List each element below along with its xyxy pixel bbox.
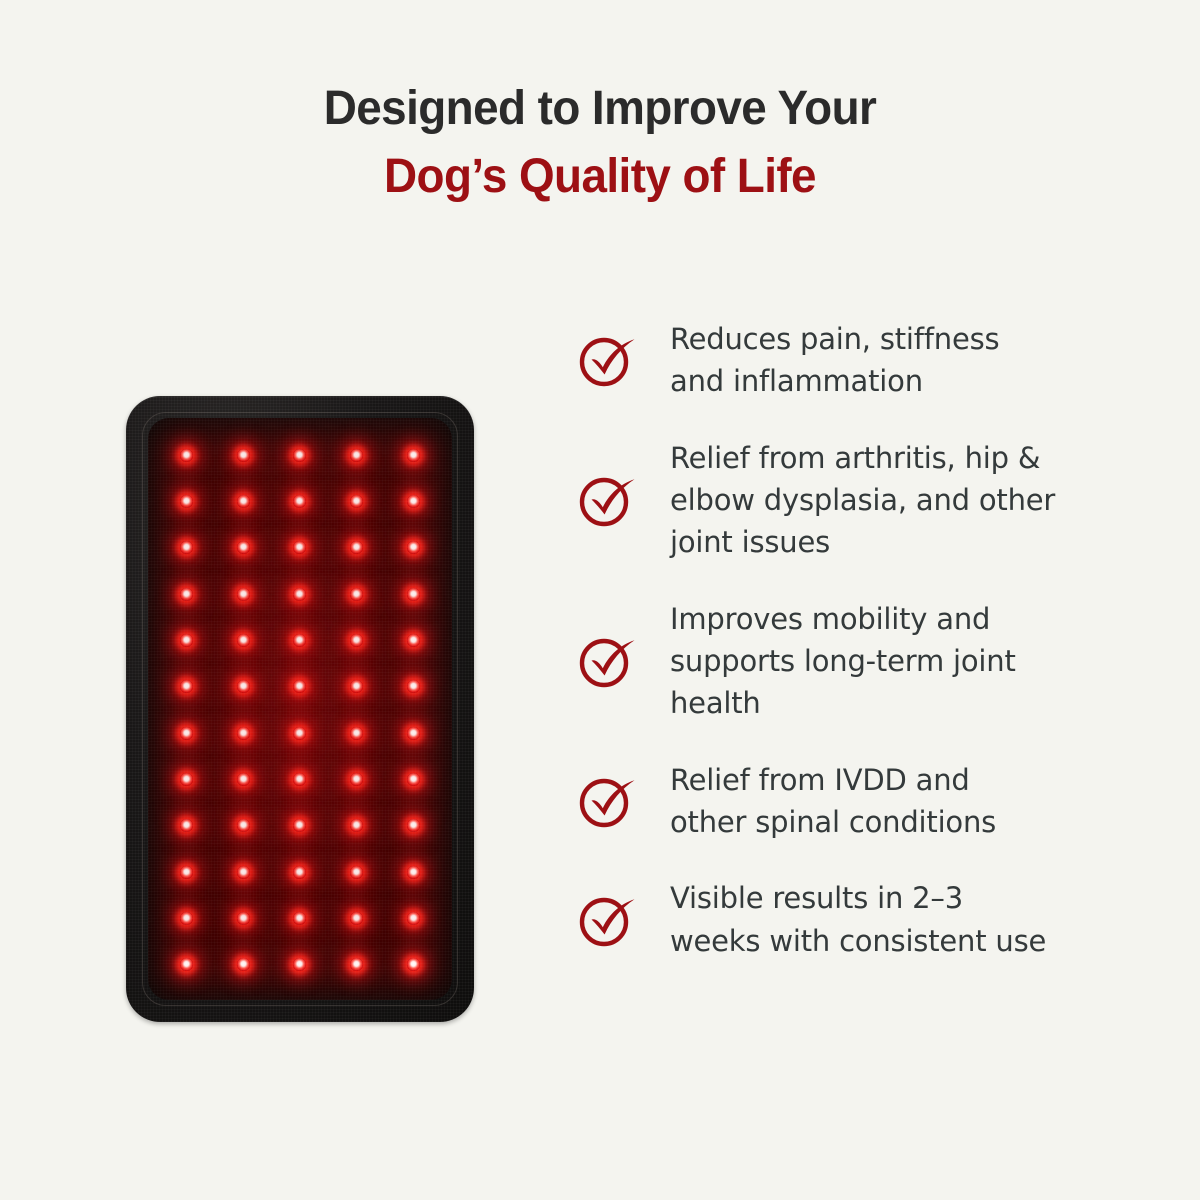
- benefit-item: Relief from arthritis, hip & elbow dyspl…: [576, 437, 1176, 564]
- led-light: [180, 680, 193, 693]
- pad-led-panel: [148, 418, 452, 1000]
- led-light: [293, 449, 306, 462]
- led-light: [293, 495, 306, 508]
- led-cell: [385, 803, 442, 849]
- led-light: [350, 588, 363, 601]
- led-light: [293, 819, 306, 832]
- led-cell: [328, 895, 385, 941]
- led-cell: [385, 895, 442, 941]
- benefit-item: Visible results in 2–3 weeks with consis…: [576, 877, 1176, 962]
- circle-check-icon: [576, 470, 642, 530]
- led-cell: [215, 525, 272, 571]
- led-cell: [215, 478, 272, 524]
- led-light: [237, 727, 250, 740]
- led-cell: [215, 571, 272, 617]
- led-cell: [328, 432, 385, 478]
- led-light: [293, 680, 306, 693]
- led-light: [180, 588, 193, 601]
- led-light: [293, 912, 306, 925]
- product-image-red-light-therapy-pad: [126, 396, 474, 1022]
- pad-fabric-body: [126, 396, 474, 1022]
- led-light: [293, 727, 306, 740]
- led-cell: [328, 849, 385, 895]
- led-cell: [158, 478, 215, 524]
- led-light: [237, 680, 250, 693]
- benefit-text: Reduces pain, stiffness and inflammation: [670, 318, 999, 403]
- benefit-text: Improves mobility and supports long-term…: [670, 598, 1016, 725]
- led-light: [237, 958, 250, 971]
- led-cell: [385, 571, 442, 617]
- led-cell: [158, 803, 215, 849]
- circle-check-icon: [576, 890, 642, 950]
- led-cell: [272, 710, 329, 756]
- led-light: [350, 541, 363, 554]
- led-light: [237, 866, 250, 879]
- led-cell: [215, 756, 272, 802]
- benefit-text: Visible results in 2–3 weeks with consis…: [670, 877, 1046, 962]
- led-light: [237, 773, 250, 786]
- led-light: [350, 866, 363, 879]
- led-cell: [272, 432, 329, 478]
- led-cell: [385, 849, 442, 895]
- led-cell: [158, 617, 215, 663]
- led-cell: [158, 710, 215, 756]
- led-light: [180, 541, 193, 554]
- led-cell: [272, 756, 329, 802]
- led-light: [350, 449, 363, 462]
- led-cell: [385, 525, 442, 571]
- led-cell: [328, 756, 385, 802]
- page-title: Designed to Improve Your Dog’s Quality o…: [0, 78, 1200, 209]
- title-line-primary: Designed to Improve Your: [27, 78, 1173, 140]
- led-light: [350, 727, 363, 740]
- led-cell: [158, 525, 215, 571]
- led-cell: [272, 478, 329, 524]
- led-light: [407, 495, 420, 508]
- led-light: [293, 866, 306, 879]
- led-cell: [158, 664, 215, 710]
- benefit-item: Improves mobility and supports long-term…: [576, 598, 1176, 725]
- led-cell: [215, 617, 272, 663]
- led-light: [180, 958, 193, 971]
- led-cell: [328, 525, 385, 571]
- promo-graphic: Designed to Improve Your Dog’s Quality o…: [0, 0, 1200, 1200]
- led-light: [407, 912, 420, 925]
- led-cell: [272, 849, 329, 895]
- led-cell: [385, 942, 442, 988]
- benefits-list: Reduces pain, stiffness and inflammation…: [576, 318, 1176, 962]
- led-light: [407, 773, 420, 786]
- led-light: [350, 773, 363, 786]
- led-cell: [328, 803, 385, 849]
- led-cell: [328, 664, 385, 710]
- led-light: [407, 541, 420, 554]
- led-light: [180, 912, 193, 925]
- led-light: [350, 495, 363, 508]
- led-light: [293, 588, 306, 601]
- led-cell: [328, 617, 385, 663]
- led-light: [237, 541, 250, 554]
- led-light: [293, 773, 306, 786]
- led-cell: [328, 942, 385, 988]
- led-cell: [272, 571, 329, 617]
- circle-check-icon: [576, 771, 642, 831]
- circle-check-icon: [576, 330, 642, 390]
- benefit-text: Relief from IVDD and other spinal condit…: [670, 759, 996, 844]
- led-light: [350, 958, 363, 971]
- led-cell: [215, 942, 272, 988]
- led-light: [350, 912, 363, 925]
- benefit-item: Reduces pain, stiffness and inflammation: [576, 318, 1176, 403]
- led-light: [180, 727, 193, 740]
- led-light: [407, 634, 420, 647]
- led-light: [237, 634, 250, 647]
- led-light: [293, 958, 306, 971]
- led-light: [407, 680, 420, 693]
- led-cell: [158, 756, 215, 802]
- led-light: [407, 866, 420, 879]
- led-cell: [158, 942, 215, 988]
- led-cell: [385, 478, 442, 524]
- led-light: [293, 541, 306, 554]
- led-light: [180, 819, 193, 832]
- led-light: [350, 819, 363, 832]
- title-line-accent: Dog’s Quality of Life: [27, 146, 1173, 208]
- led-light: [180, 773, 193, 786]
- led-light: [293, 634, 306, 647]
- led-cell: [272, 942, 329, 988]
- led-cell: [158, 432, 215, 478]
- led-cell: [272, 525, 329, 571]
- led-grid: [148, 418, 452, 1000]
- led-cell: [158, 571, 215, 617]
- led-cell: [215, 664, 272, 710]
- benefit-text: Relief from arthritis, hip & elbow dyspl…: [670, 437, 1055, 564]
- led-light: [237, 588, 250, 601]
- led-cell: [272, 617, 329, 663]
- circle-check-icon: [576, 631, 642, 691]
- led-cell: [215, 803, 272, 849]
- led-cell: [385, 664, 442, 710]
- led-cell: [272, 664, 329, 710]
- led-cell: [215, 895, 272, 941]
- led-light: [407, 819, 420, 832]
- led-cell: [385, 756, 442, 802]
- led-light: [407, 588, 420, 601]
- led-light: [407, 958, 420, 971]
- led-light: [180, 866, 193, 879]
- led-light: [237, 449, 250, 462]
- led-cell: [215, 432, 272, 478]
- led-cell: [328, 571, 385, 617]
- led-cell: [272, 895, 329, 941]
- led-cell: [385, 617, 442, 663]
- led-light: [237, 912, 250, 925]
- led-light: [180, 634, 193, 647]
- led-cell: [328, 710, 385, 756]
- led-cell: [215, 849, 272, 895]
- led-cell: [385, 432, 442, 478]
- led-cell: [158, 849, 215, 895]
- led-light: [180, 449, 193, 462]
- led-cell: [385, 710, 442, 756]
- led-light: [237, 495, 250, 508]
- led-cell: [158, 895, 215, 941]
- led-light: [407, 449, 420, 462]
- led-light: [350, 634, 363, 647]
- led-light: [407, 727, 420, 740]
- led-cell: [215, 710, 272, 756]
- benefit-item: Relief from IVDD and other spinal condit…: [576, 759, 1176, 844]
- led-light: [350, 680, 363, 693]
- led-cell: [328, 478, 385, 524]
- led-cell: [272, 803, 329, 849]
- led-light: [237, 819, 250, 832]
- led-light: [180, 495, 193, 508]
